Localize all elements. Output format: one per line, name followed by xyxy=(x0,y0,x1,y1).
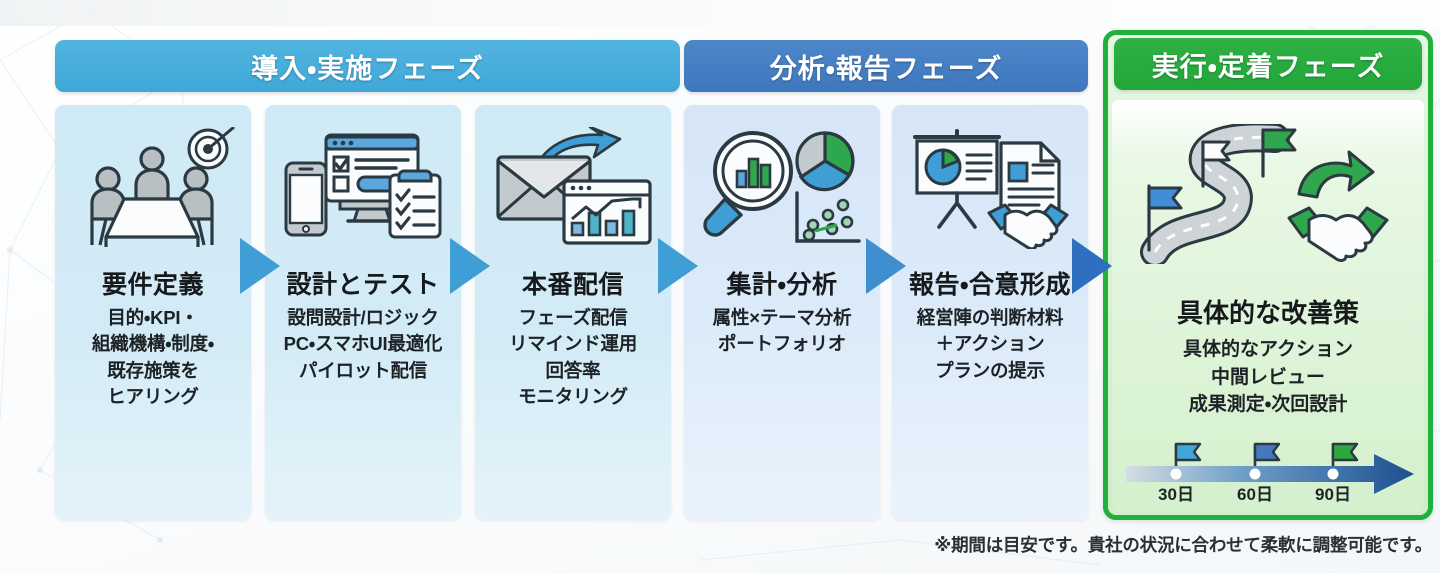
chevron-arrow-2 xyxy=(448,238,492,294)
phase-header-label: 実行・定着フェーズ xyxy=(1152,45,1385,84)
card-body-line: モニタリング xyxy=(477,384,669,410)
card-body-line: 属性×テーマ分析 xyxy=(686,305,878,331)
card-body-line: ＋アクション xyxy=(894,331,1086,357)
chevron-arrow-3 xyxy=(656,238,700,294)
phase-header-label: 導入・実施フェーズ xyxy=(251,47,484,86)
timeline-label-90: 90日 xyxy=(1305,480,1361,505)
card-aggregation-analysis: 集計・分析 属性×テーマ分析 ポートフォリオ xyxy=(684,105,880,520)
card-body: 属性×テーマ分析 ポートフォリオ xyxy=(686,305,878,358)
phase-header-execution-embed: 実行・定着フェーズ xyxy=(1114,38,1422,90)
timeline-label-30: 30日 xyxy=(1148,480,1204,505)
card-body-line: PC・スマホUI最適化 xyxy=(267,331,459,357)
card-production-delivery: 本番配信 フェーズ配信 リマインド運用 回答率 モニタリング xyxy=(475,105,671,520)
card-body: 具体的なアクション 中間レビュー 成果測定・次回設計 xyxy=(1112,336,1424,419)
infographic-stage: 導入・実施フェーズ 分析・報告フェーズ 実行・定着フェーズ xyxy=(0,0,1440,573)
chevron-arrow-1 xyxy=(238,238,282,294)
card-body-line: 設問設計/ロジック xyxy=(267,305,459,331)
timeline-label-60: 60日 xyxy=(1227,480,1283,505)
phase-header-label: 分析・報告フェーズ xyxy=(770,47,1003,86)
meeting-target-icon xyxy=(55,127,251,257)
card-body-line: 組織機構・制度・ xyxy=(57,331,249,357)
card-body: フェーズ配信 リマインド運用 回答率 モニタリング xyxy=(477,305,669,410)
card-title: 本番配信 xyxy=(475,265,671,301)
devices-checklist-icon xyxy=(265,127,461,257)
card-body-line: リマインド運用 xyxy=(477,331,669,357)
chevron-arrow-5 xyxy=(1070,238,1114,294)
card-body: 設問設計/ロジック PC・スマホUI最適化 パイロット配信 xyxy=(267,305,459,384)
card-requirements-definition: 要件定義 目的・KPI・ 組織機構・制度・ 既存施策を ヒアリング xyxy=(55,105,251,520)
footnote-note: ※期間は目安です。貴社の状況に合わせて柔軟に調整可能です。 xyxy=(892,532,1432,557)
card-body-line: 具体的なアクション xyxy=(1112,336,1424,364)
chevron-arrow-4 xyxy=(864,238,908,294)
card-title: 要件定義 xyxy=(55,265,251,301)
timeline-labels: 30日 60日 90日 xyxy=(1126,480,1414,508)
card-body-line: 回答率 xyxy=(477,358,669,384)
card-report-consensus: 報告・合意形成 経営陣の判断材料 ＋アクション プランの提示 xyxy=(892,105,1088,520)
card-body-line: フェーズ配信 xyxy=(477,305,669,331)
card-body-line: プランの提示 xyxy=(894,358,1086,384)
roadmap-handshake-icon xyxy=(1112,124,1424,264)
card-title: 設計とテスト xyxy=(265,265,461,301)
phase-header-intro-implementation: 導入・実施フェーズ xyxy=(55,40,680,92)
card-title: 報告・合意形成 xyxy=(892,265,1088,301)
mail-analytics-icon xyxy=(475,127,671,257)
card-title: 集計・分析 xyxy=(684,265,880,301)
card-body-line: 既存施策を xyxy=(57,358,249,384)
card-title: 具体的な改善策 xyxy=(1112,293,1424,330)
card-body-line: パイロット配信 xyxy=(267,358,459,384)
magnifier-charts-icon xyxy=(684,127,880,257)
card-body-line: ポートフォリオ xyxy=(686,331,878,357)
phase-header-analysis-report: 分析・報告フェーズ xyxy=(684,40,1088,92)
card-body-line: ヒアリング xyxy=(57,384,249,410)
card-body-line: 経営陣の判断材料 xyxy=(894,305,1086,331)
card-body: 経営陣の判断材料 ＋アクション プランの提示 xyxy=(894,305,1086,384)
presentation-handshake-icon xyxy=(892,127,1088,257)
card-body-line: 目的・KPI・ xyxy=(57,305,249,331)
card-body: 目的・KPI・ 組織機構・制度・ 既存施策を ヒアリング xyxy=(57,305,249,410)
card-design-and-test: 設計とテスト 設問設計/ロジック PC・スマホUI最適化 パイロット配信 xyxy=(265,105,461,520)
card-body-line: 成果測定・次回設計 xyxy=(1112,391,1424,419)
card-body-line: 中間レビュー xyxy=(1112,364,1424,392)
